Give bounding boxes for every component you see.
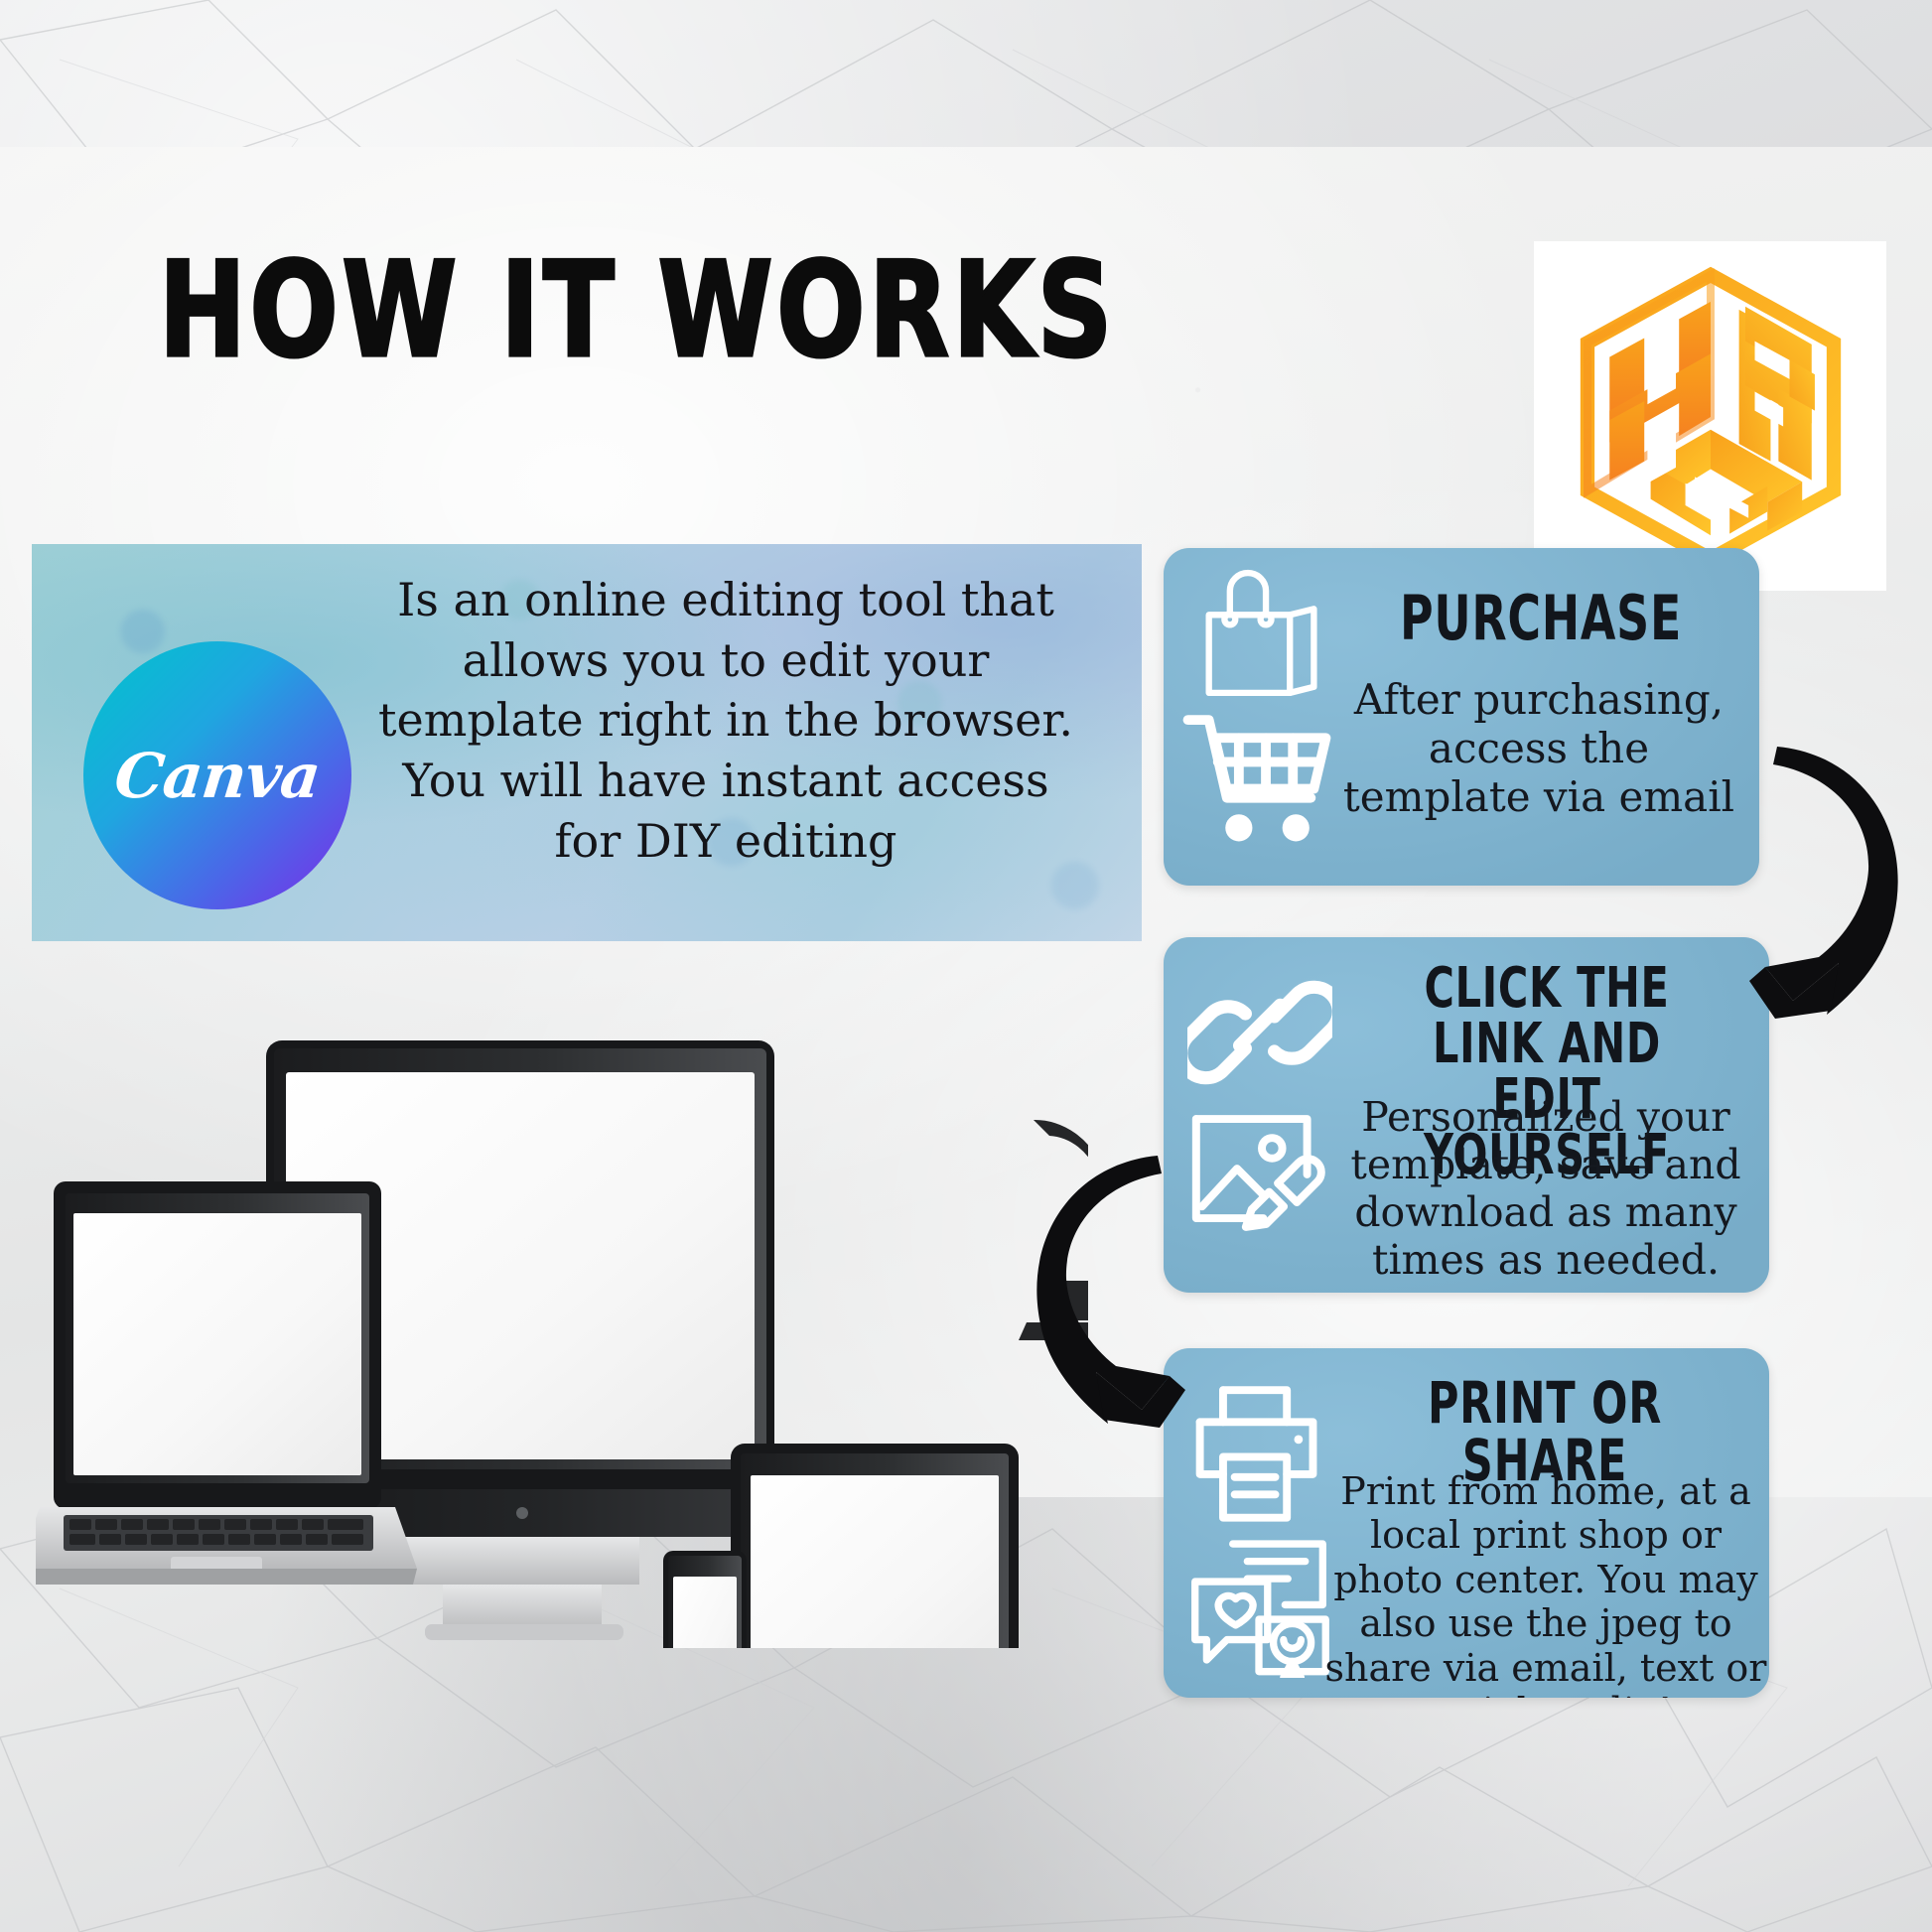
purchase-heading: PURCHASE [1387,588,1696,649]
share-message-icon [1183,1529,1334,1678]
laptop-mockup [36,1181,417,1585]
canva-banner: Canva Is an online editing tool that all… [32,544,1142,941]
device-mockup [36,1033,1088,1648]
purchase-body: After purchasing, access the template vi… [1330,675,1747,821]
step-card-click-edit[interactable]: CLICK THE LINK AND EDIT YOURSELF Persona… [1164,937,1769,1293]
shopping-cart-icon [1181,705,1338,846]
arrow-purchase-to-click [1735,721,1932,1038]
canva-line: Is an online editing tool that [330,570,1122,630]
tablet-mockup [731,1444,1019,1648]
canva-logo: Canva [83,641,351,909]
step-card-purchase[interactable]: PURCHASE After purchasing, access the te… [1164,548,1759,886]
canva-description: Is an online editing tool that allows yo… [330,570,1122,872]
click-edit-heading-line: CLICK THE LINK AND [1385,961,1709,1072]
infographic-canvas: HOW IT WORKS [0,0,1932,1932]
canva-wordmark: Canva [111,740,323,812]
arrow-click-to-print [1001,1130,1199,1448]
shopping-bag-icon [1181,564,1332,711]
hrg-cube-icon [1553,259,1868,575]
canva-line: for DIY editing [330,811,1122,872]
printer-icon [1185,1378,1330,1527]
image-edit-icon [1187,1104,1336,1239]
page-title: HOW IT WORKS [159,246,929,377]
click-edit-icons [1181,953,1355,1239]
canva-line: template right in the browser. [330,690,1122,751]
brand-logo [1534,241,1886,591]
canva-line: allows you to edit your [330,630,1122,691]
link-chain-icon [1187,967,1332,1098]
smartphone-mockup [663,1551,747,1648]
canva-line: You will have instant access [330,751,1122,811]
purchase-icons [1181,564,1355,846]
click-edit-body: Personalized your template, save and dow… [1332,1094,1759,1285]
step-card-print-share[interactable]: PRINT OR SHARE Print from home, at a loc… [1164,1348,1769,1698]
print-share-body: Print from home, at a local print shop o… [1322,1469,1769,1698]
